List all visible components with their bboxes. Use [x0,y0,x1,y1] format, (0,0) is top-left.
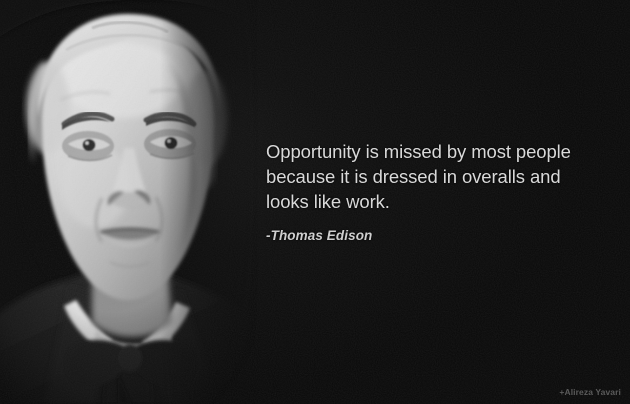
quote-line-2: because it is dressed in overalls and [266,164,596,189]
edison-portrait-image: Thomas Edison portrait [0,0,258,404]
quote-block: Opportunity is missed by most people bec… [266,139,596,243]
quote-line-3: looks like work. [266,189,596,214]
edison-portrait: Thomas Edison portrait [0,0,258,404]
portrait-ear [196,148,216,188]
author-credit: +Alireza Yavari [559,387,621,397]
quote-poster: Thomas Edison portrait [0,0,630,404]
quote-line-1: Opportunity is missed by most people [266,139,596,164]
quote-attribution: -Thomas Edison [266,228,596,243]
